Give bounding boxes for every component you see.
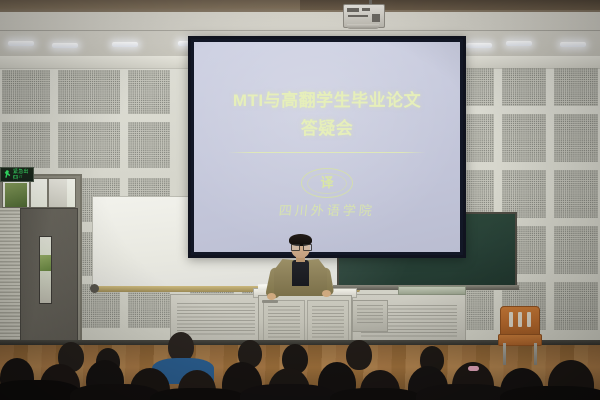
projection-screen: MTI与高翻学生毕业论文 答疑会 译 四川外语学院 xyxy=(188,36,466,258)
ceiling-light xyxy=(52,43,78,48)
slide-title-line1: MTI与高翻学生毕业论文 xyxy=(194,86,460,111)
lectern-handle[interactable] xyxy=(262,300,278,303)
slide-title-line2: 答疑会 xyxy=(194,114,460,139)
glasses-icon xyxy=(291,244,310,249)
outdoor-foliage xyxy=(5,183,27,207)
audience-silhouette xyxy=(500,386,600,400)
audience-silhouette xyxy=(416,384,512,400)
logo-character: 译 xyxy=(302,174,352,192)
presenter-shirt xyxy=(292,260,309,286)
presenter-hand-left xyxy=(267,293,276,300)
running-man-icon xyxy=(4,170,11,178)
slide-divider xyxy=(228,152,426,153)
ceiling-seam xyxy=(0,30,600,31)
hair-tie xyxy=(468,366,479,371)
ceiling-light xyxy=(112,42,138,47)
ceiling-light xyxy=(506,41,532,46)
ceiling-light xyxy=(560,42,586,47)
door-view-window xyxy=(39,236,52,304)
outdoor-building xyxy=(49,179,67,207)
projection-screen-surface: MTI与高翻学生毕业论文 答疑会 译 四川外语学院 xyxy=(194,42,460,252)
audience-silhouette xyxy=(70,384,160,400)
acoustic-panel-grid-right xyxy=(452,66,600,342)
institution-name: 四川外语学院 xyxy=(194,200,460,219)
exit-sign-label-en: EXIT xyxy=(13,175,23,179)
audience xyxy=(0,318,600,400)
audience-silhouette xyxy=(150,388,246,400)
audience-silhouette xyxy=(240,384,336,400)
audience-silhouette xyxy=(330,388,422,400)
logo-oval-icon: 译 xyxy=(301,168,353,198)
desk-top-panel xyxy=(398,286,466,295)
ceiling-light xyxy=(8,41,34,46)
university-logo: 译 xyxy=(194,168,460,203)
chalk-ledge-end-cap xyxy=(90,284,99,293)
transom-window xyxy=(2,178,76,208)
lecture-hall-photo: 紧急出口 EXIT MTI与高翻学生毕业论文 答疑会 译 四川外语学院 xyxy=(0,0,600,400)
exit-sign: 紧急出口 EXIT xyxy=(0,167,34,182)
audience-head xyxy=(346,340,372,370)
audience-silhouette xyxy=(0,380,80,400)
presenter-hand-right xyxy=(322,290,331,297)
presenter xyxy=(268,236,332,298)
ceiling-light xyxy=(466,43,492,48)
projector-lens-icon xyxy=(347,24,379,29)
